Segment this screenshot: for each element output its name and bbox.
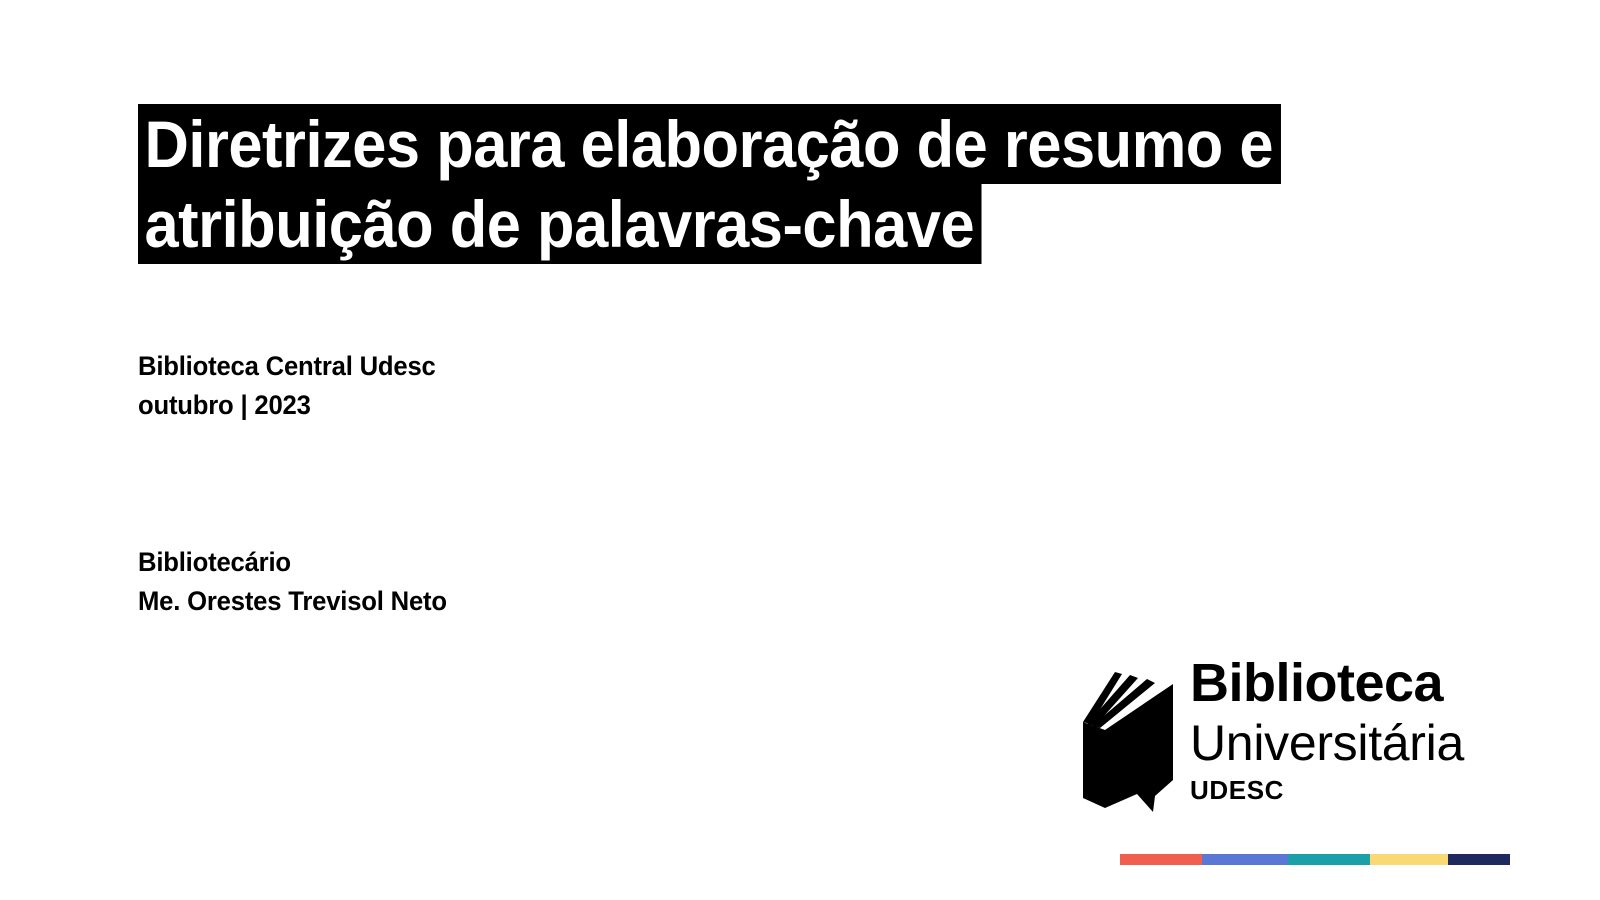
organization-label: Biblioteca Central Udesc (138, 347, 436, 386)
logo-line-biblioteca: Biblioteca (1190, 652, 1500, 714)
presentation-slide: Diretrizes para elaboração de resumo e a… (0, 0, 1600, 900)
color-bar-segment-periwinkle (1202, 854, 1288, 865)
logo-line-udesc: UDESC (1190, 774, 1500, 806)
color-bar-segment-yellow (1370, 854, 1448, 865)
author-role-label: Bibliotecário (138, 543, 447, 582)
title-line-2: atribuição de palavras-chave (138, 184, 982, 264)
brand-color-bar (1120, 854, 1510, 865)
library-logo: Biblioteca Universitária UDESC (1075, 652, 1500, 812)
author-name-label: Me. Orestes Trevisol Neto (138, 582, 447, 621)
slide-meta: Biblioteca Central Udesc outubro | 2023 (138, 347, 451, 425)
color-bar-segment-navy (1448, 854, 1510, 865)
date-label: outubro | 2023 (138, 386, 436, 425)
open-book-icon (1075, 660, 1187, 812)
slide-title: Diretrizes para elaboração de resumo e a… (138, 104, 1438, 264)
logo-line-universitaria: Universitária (1190, 714, 1500, 772)
color-bar-segment-teal (1288, 854, 1370, 865)
slide-author: Bibliotecário Me. Orestes Trevisol Neto (138, 543, 463, 621)
color-bar-segment-coral (1120, 854, 1202, 865)
logo-wordmark: Biblioteca Universitária UDESC (1190, 652, 1500, 806)
title-line-1: Diretrizes para elaboração de resumo e (138, 104, 1281, 184)
